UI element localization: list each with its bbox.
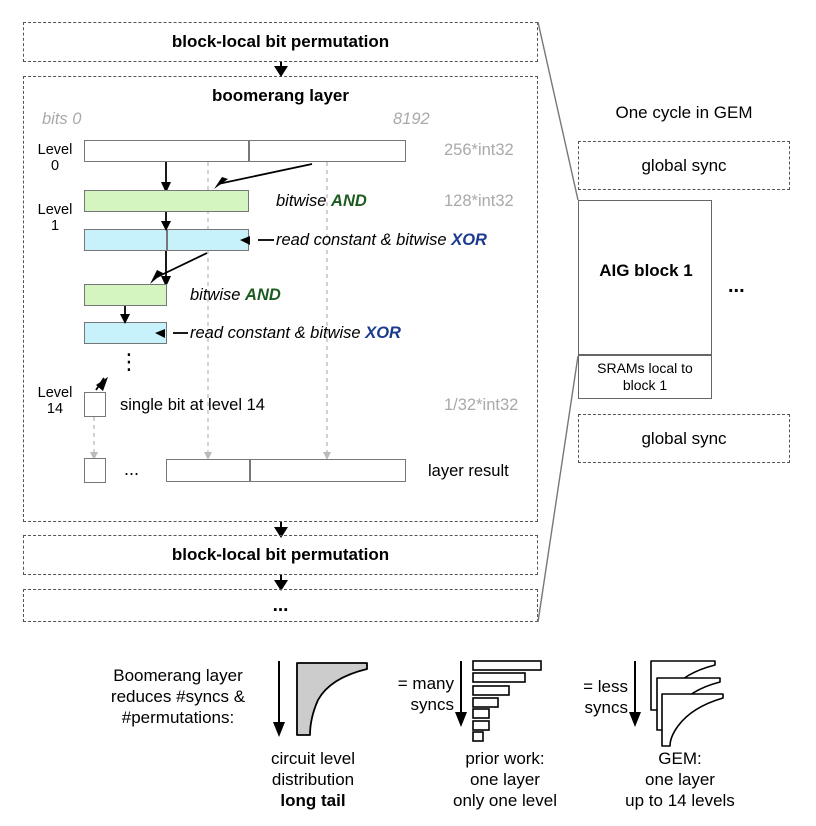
- gem-figure: [0, 0, 816, 826]
- item3-caption-1: GEM:: [658, 749, 701, 768]
- item3-caption-3: up to 14 levels: [625, 791, 735, 810]
- item3-caption: GEM: one layer up to 14 levels: [590, 748, 770, 811]
- item3-caption-2: one layer: [645, 770, 715, 789]
